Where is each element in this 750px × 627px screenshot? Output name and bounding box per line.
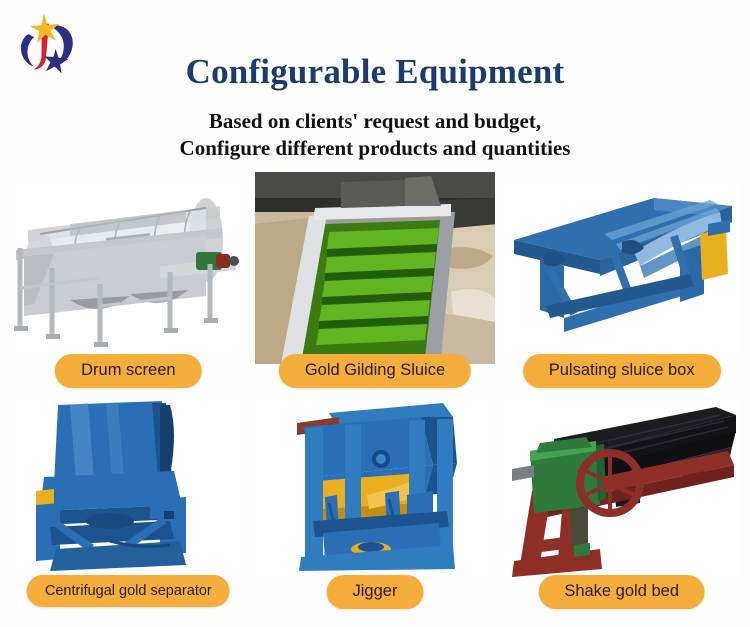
product-label-badge[interactable]: Shake gold bed	[538, 575, 705, 609]
blue-jigger-machine-photo	[255, 399, 496, 577]
product-label-badge[interactable]: Drum screen	[55, 354, 201, 388]
product-card-shake-gold-bed[interactable]: Shake gold bed	[501, 399, 742, 618]
trommel-drum-screen-photo	[8, 178, 249, 356]
shaking-table-gold-bed-photo	[501, 399, 742, 577]
blue-centrifugal-separator-photo	[8, 399, 249, 577]
product-label-badge[interactable]: Gold Gilding Sluice	[279, 354, 471, 388]
product-label-badge[interactable]: Jigger	[327, 575, 424, 609]
subtitle-line-2: Configure different products and quantit…	[0, 135, 750, 162]
product-label-badge[interactable]: Centrifugal gold separator	[27, 575, 230, 607]
green-sluice-box-photo	[255, 172, 496, 364]
product-card-centrifugal-gold-separator[interactable]: Centrifugal gold separator	[8, 399, 249, 618]
product-label-badge[interactable]: Pulsating sluice box	[523, 354, 721, 388]
page-title: Configurable Equipment	[0, 52, 750, 92]
product-card-gold-gilding-sluice[interactable]: Gold Gilding Sluice	[255, 178, 496, 397]
subtitle-line-1: Based on clients' request and budget,	[0, 108, 750, 135]
product-card-drum-screen[interactable]: Drum screen	[8, 178, 249, 397]
product-card-pulsating-sluice-box[interactable]: Pulsating sluice box	[501, 178, 742, 397]
product-card-jigger[interactable]: Jigger	[255, 399, 496, 618]
configurable-equipment-banner: Configurable Equipment Based on clients'…	[0, 0, 750, 627]
product-grid: Drum screen	[8, 178, 742, 618]
page-subtitle: Based on clients' request and budget, Co…	[0, 108, 750, 162]
blue-pulsating-sluice-box-photo	[501, 178, 742, 356]
